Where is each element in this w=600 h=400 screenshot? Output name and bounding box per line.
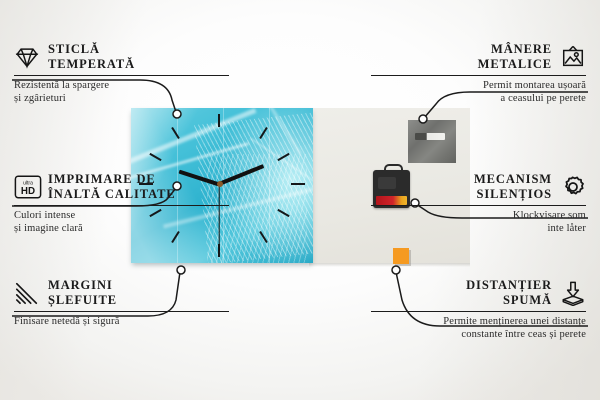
feature-description: Rezistentă la spargere și zgârieturi [14,80,229,105]
feature-description: Permite menținerea unei distanțe constan… [371,316,586,341]
feature-polished-edges[interactable]: MARGINI ȘLEFUITE Finisare netedă și sigu… [14,278,229,329]
feature-header: MARGINI ȘLEFUITE [14,278,229,307]
beveled-edge-icon [14,280,40,306]
feature-title: MECANISM SILENȚIOS [474,172,552,201]
clock-tick [149,153,161,161]
svg-text:HD: HD [21,186,35,197]
feature-header: STICLĂ TEMPERATĂ [14,42,229,71]
divider [371,205,586,206]
foam-spacer-icon [560,280,586,306]
divider [371,311,586,312]
feature-description: Klockvisare som inte låter [371,210,586,235]
infographic-canvas: STICLĂ TEMPERATĂ Rezistentă la spargere … [0,0,600,400]
clock-tick [218,114,220,127]
divider [14,75,229,76]
ultra-hd-icon: ultra HD [14,174,40,200]
feature-header: ultra HD IMPRIMARE DE ÎNALTĂ CALITATE [14,172,229,201]
feature-high-quality-print[interactable]: ultra HD IMPRIMARE DE ÎNALTĂ CALITATE Cu… [14,172,229,235]
feature-header: MÂNERE METALICE [371,42,586,71]
feature-title: DISTANȚIER SPUMĂ [466,278,552,307]
hanger-slot [415,133,445,140]
divider [14,311,229,312]
feature-description: Permit montarea ușoară a ceasului pe per… [371,80,586,105]
glass-seam [269,108,270,263]
feature-foam-spacer[interactable]: DISTANȚIER SPUMĂ Permite menținerea unei… [371,278,586,341]
clock-tick [171,127,180,139]
foam-spacer-square [393,248,409,264]
picture-hanger-icon [560,44,586,70]
feature-title: MÂNERE METALICE [478,42,552,71]
feature-silent-mechanism[interactable]: MECANISM SILENȚIOS Klockvisare som inte … [371,172,586,235]
feature-description: Finisare netedă și sigură [14,316,229,329]
metal-hanger-plate [408,120,456,163]
feature-header: MECANISM SILENȚIOS [371,172,586,201]
feature-header: DISTANȚIER SPUMĂ [371,278,586,307]
feature-description: Culori intense și imagine clară [14,210,229,235]
feature-title: MARGINI ȘLEFUITE [48,278,117,307]
clock-tick [291,183,305,185]
feature-metal-handles[interactable]: MÂNERE METALICE Permit montarea ușoară a… [371,42,586,105]
gear-icon [560,174,586,200]
feature-title: STICLĂ TEMPERATĂ [48,42,135,71]
feature-tempered-glass[interactable]: STICLĂ TEMPERATĂ Rezistentă la spargere … [14,42,229,105]
divider [371,75,586,76]
diamond-icon [14,44,40,70]
divider [14,205,229,206]
feature-title: IMPRIMARE DE ÎNALTĂ CALITATE [48,172,176,201]
